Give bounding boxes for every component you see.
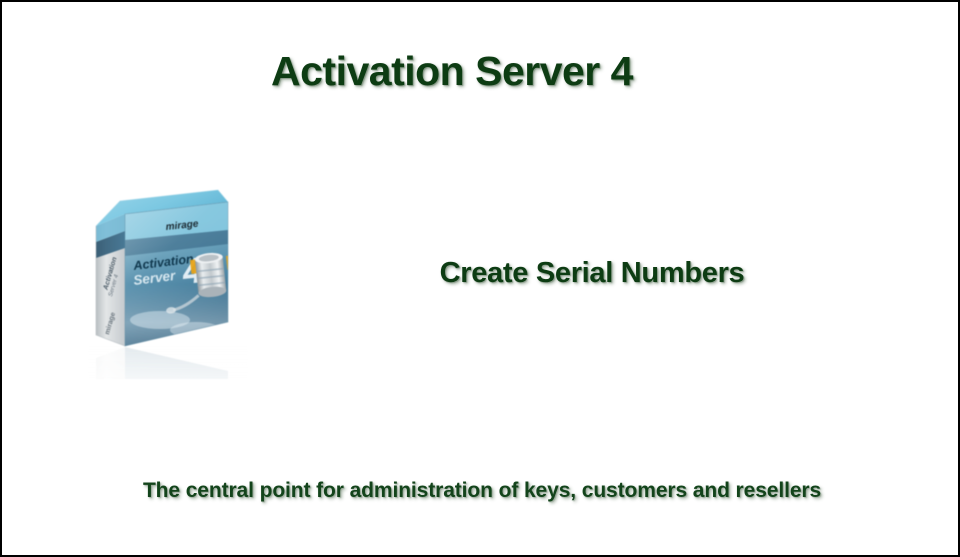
- page-title: Activation Server 4: [2, 48, 902, 95]
- box-accent-bar-right: [226, 255, 234, 270]
- section-heading: Create Serial Numbers: [362, 257, 822, 290]
- product-box-image: Activation Server 4 mirage: [68, 174, 268, 379]
- tagline: The central point for administration of …: [2, 479, 960, 503]
- box-reflection: [88, 344, 248, 379]
- product-box-svg: Activation Server 4 mirage: [68, 174, 268, 379]
- slide-canvas: Activation Server 4 mirage: [0, 0, 960, 557]
